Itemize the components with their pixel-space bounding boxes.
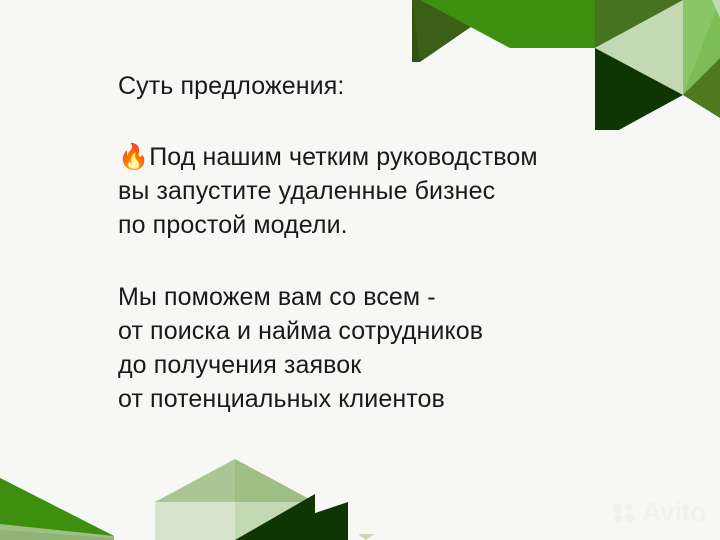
slide-canvas: Суть предложения: 🔥Под нашим четким руко… xyxy=(0,0,720,540)
avito-watermark: Avito xyxy=(611,499,706,526)
content-text-block: Суть предложения: 🔥Под нашим четким руко… xyxy=(118,70,658,416)
avito-watermark-label: Avito xyxy=(642,499,706,526)
left-edge-watermark: avito xyxy=(0,10,50,70)
offer-paragraph-2: Мы поможем вам со всем - от поиска и най… xyxy=(118,280,658,416)
page-title: Суть предложения: xyxy=(118,70,658,102)
avito-logo-icon xyxy=(611,502,637,524)
offer-paragraph-1: 🔥Под нашим четким руководством вы запуст… xyxy=(118,140,658,242)
bottom-triangle-decoration xyxy=(0,450,720,540)
